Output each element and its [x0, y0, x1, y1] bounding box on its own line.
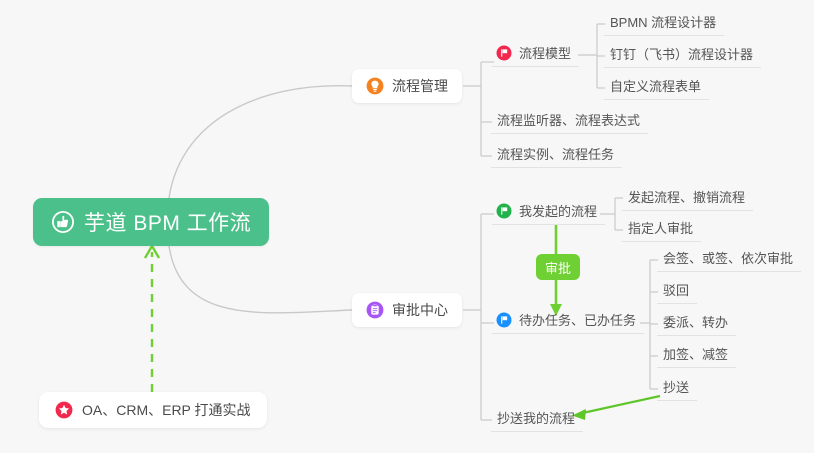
mindmap-canvas: 芋道 BPM 工作流 流程管理 流程模型 BPMN 流程设计器 钉钉（飞书）流程: [0, 0, 814, 453]
node-designated-approver[interactable]: 指定人审批: [622, 216, 701, 242]
link-root-to-process-management: [168, 86, 352, 206]
node-bpmn-designer[interactable]: BPMN 流程设计器: [604, 10, 724, 36]
lightbulb-icon: [366, 77, 384, 95]
node-label-cc-to-me-process: 抄送我的流程: [497, 408, 575, 427]
node-todo-done-tasks[interactable]: 待办任务、已办任务: [492, 308, 644, 334]
flag-icon: [496, 45, 512, 61]
node-label-start-cancel-process: 发起流程、撤销流程: [628, 187, 745, 206]
branch-node-approval-center[interactable]: 审批中心: [352, 293, 462, 327]
node-cc-to-me-process[interactable]: 抄送我的流程: [491, 406, 583, 432]
arrow-callout-head: [145, 246, 159, 258]
node-label-delegate-transfer: 委派、转办: [663, 312, 728, 331]
branch-label-approval-center: 审批中心: [392, 300, 448, 320]
callout-label-integration: OA、CRM、ERP 打通实战: [82, 400, 251, 420]
node-start-cancel-process[interactable]: 发起流程、撤销流程: [622, 185, 753, 211]
node-label-dingtalk-feishu-designer: 钉钉（飞书）流程设计器: [610, 44, 753, 63]
branch-label-process-management: 流程管理: [392, 76, 448, 96]
branch-node-process-management[interactable]: 流程管理: [352, 69, 462, 103]
node-process-model[interactable]: 流程模型: [492, 41, 579, 67]
node-label-reject: 驳回: [663, 280, 689, 299]
node-cc[interactable]: 抄送: [657, 375, 697, 401]
node-label-process-listener-expression: 流程监听器、流程表达式: [497, 110, 640, 129]
node-process-listener-expression[interactable]: 流程监听器、流程表达式: [491, 108, 648, 134]
link-root-to-approval-center: [168, 238, 352, 313]
thumbs-up-icon: [51, 210, 75, 234]
node-label-designated-approver: 指定人审批: [628, 218, 693, 237]
star-icon: [55, 401, 73, 419]
node-label-todo-done-tasks: 待办任务、已办任务: [519, 310, 636, 329]
root-node-label: 芋道 BPM 工作流: [84, 207, 251, 237]
node-label-cc: 抄送: [663, 377, 689, 396]
node-custom-process-form[interactable]: 自定义流程表单: [604, 74, 709, 100]
approval-arrow-label: 审批: [536, 254, 580, 280]
node-label-bpmn-designer: BPMN 流程设计器: [610, 12, 716, 31]
node-label-add-remove-sign: 加签、减签: [663, 344, 728, 363]
flag-icon: [496, 203, 512, 219]
clipboard-icon: [366, 301, 384, 319]
approval-arrow-label-text: 审批: [545, 258, 571, 277]
node-label-process-model: 流程模型: [519, 43, 571, 62]
node-reject[interactable]: 驳回: [657, 278, 697, 304]
node-my-started-process[interactable]: 我发起的流程: [492, 199, 605, 225]
flag-icon: [496, 312, 512, 328]
node-dingtalk-feishu-designer[interactable]: 钉钉（飞书）流程设计器: [604, 42, 761, 68]
node-label-my-started-process: 我发起的流程: [519, 201, 597, 220]
node-countersign-orsign-sequential[interactable]: 会签、或签、依次审批: [657, 246, 801, 272]
callout-node-integration[interactable]: OA、CRM、ERP 打通实战: [39, 392, 267, 428]
node-label-custom-process-form: 自定义流程表单: [610, 76, 701, 95]
node-label-countersign-orsign-sequential: 会签、或签、依次审批: [663, 248, 793, 267]
root-node[interactable]: 芋道 BPM 工作流: [33, 198, 269, 246]
node-label-process-instance-task: 流程实例、流程任务: [497, 144, 614, 163]
node-process-instance-task[interactable]: 流程实例、流程任务: [491, 142, 622, 168]
node-add-remove-sign[interactable]: 加签、减签: [657, 342, 736, 368]
arrow-cc-to-ccme: [578, 396, 660, 414]
node-delegate-transfer[interactable]: 委派、转办: [657, 310, 736, 336]
